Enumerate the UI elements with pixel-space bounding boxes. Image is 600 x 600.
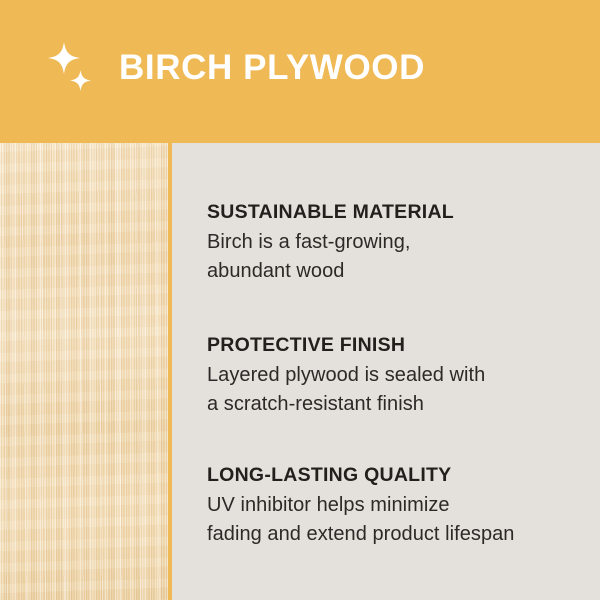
feature-heading: SUSTAINABLE MATERIAL: [207, 200, 600, 224]
wood-grain-overlay: [0, 143, 168, 600]
product-feature-card: BIRCH PLYWOOD SUSTAINABLE MATERIAL Birch…: [0, 0, 600, 600]
feature-body-line: abundant wood: [207, 257, 600, 286]
feature-list: SUSTAINABLE MATERIAL Birch is a fast-gro…: [172, 143, 600, 600]
feature-item-long-lasting-quality: LONG-LASTING QUALITY UV inhibitor helps …: [207, 463, 600, 549]
feature-body: Layered plywood is sealed with a scratch…: [207, 361, 600, 419]
sparkle-decoration-cluster: [46, 42, 108, 104]
wood-texture-swatch: [0, 143, 168, 600]
feature-heading: LONG-LASTING QUALITY: [207, 463, 600, 487]
feature-body: Birch is a fast-growing, abundant wood: [207, 228, 600, 286]
header-banner: BIRCH PLYWOOD: [0, 0, 600, 143]
sparkle-icon-small: [70, 70, 91, 91]
feature-body-line: Birch is a fast-growing,: [207, 228, 600, 257]
feature-item-protective-finish: PROTECTIVE FINISH Layered plywood is sea…: [207, 333, 600, 419]
feature-body-line: UV inhibitor helps minimize: [207, 491, 600, 520]
feature-item-sustainable-material: SUSTAINABLE MATERIAL Birch is a fast-gro…: [207, 200, 600, 286]
page-title: BIRCH PLYWOOD: [119, 46, 425, 90]
feature-body-line: Layered plywood is sealed with: [207, 361, 600, 390]
feature-body: UV inhibitor helps minimize fading and e…: [207, 491, 600, 549]
feature-body-line: fading and extend product lifespan: [207, 520, 600, 549]
feature-body-line: a scratch-resistant finish: [207, 390, 600, 419]
feature-heading: PROTECTIVE FINISH: [207, 333, 600, 357]
